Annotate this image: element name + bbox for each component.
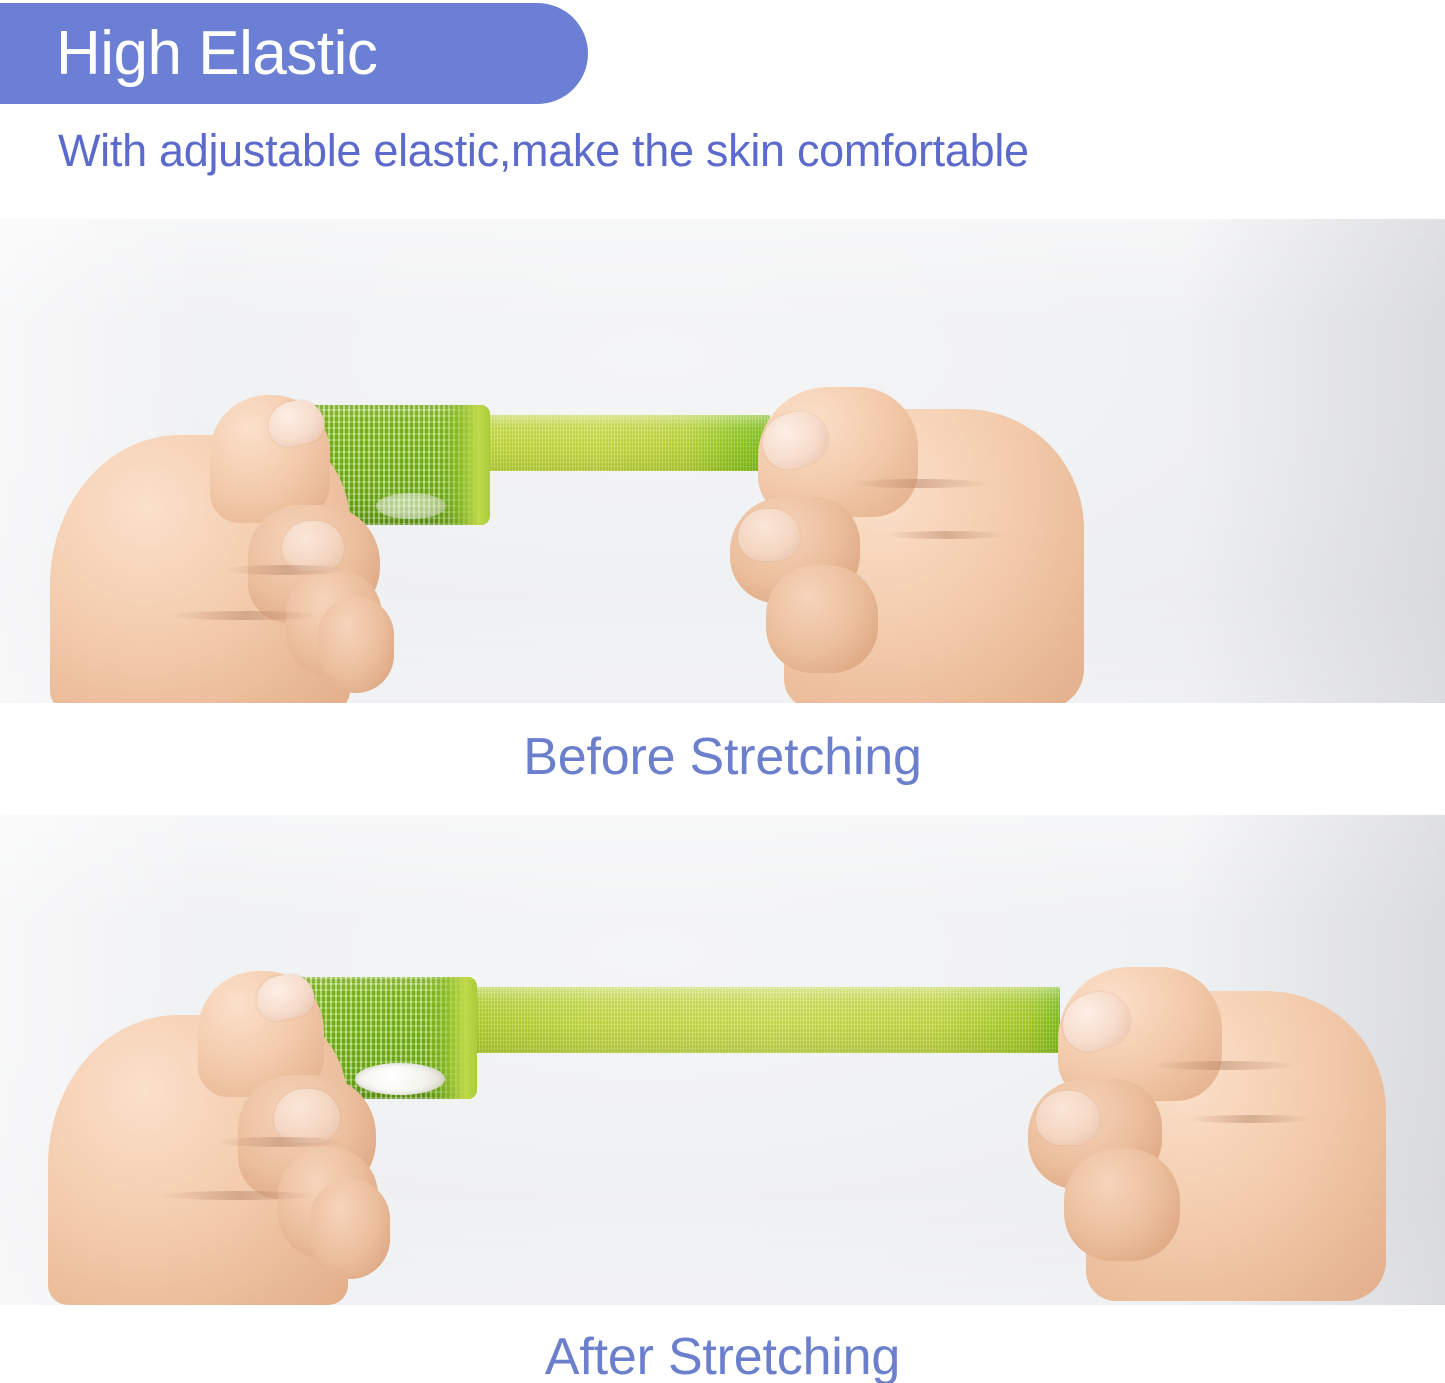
left-hand-before	[50, 379, 430, 703]
left-palm-crease	[170, 611, 320, 620]
left-knuckle-crease	[226, 565, 346, 575]
product-feature-image: High Elastic With adjustable elastic,mak…	[0, 0, 1445, 1383]
right-hand-before	[700, 369, 1100, 703]
right-middle-finger	[1064, 1149, 1180, 1261]
tape-sheen	[440, 987, 1060, 1053]
caption-before-stretching: Before Stretching	[0, 731, 1445, 783]
photo-after-stretching	[0, 815, 1445, 1305]
left-ring-finger	[310, 1179, 390, 1279]
tape-strip-after	[440, 987, 1060, 1053]
right-middle-finger	[766, 565, 878, 673]
right-knuckle-crease	[850, 479, 990, 488]
left-ring-finger	[318, 597, 394, 693]
right-knuckle-crease	[1152, 1061, 1296, 1070]
right-thumb-nail	[1036, 1091, 1100, 1145]
right-hand-crease	[1188, 1115, 1312, 1123]
subtitle-text: With adjustable elastic,make the skin co…	[58, 124, 1388, 178]
title-badge: High Elastic	[0, 3, 588, 104]
right-hand-crease	[886, 531, 1006, 539]
photo-before-stretching	[0, 219, 1445, 703]
left-hand-after	[48, 955, 438, 1305]
header: High Elastic With adjustable elastic,mak…	[0, 0, 1445, 219]
caption-after-stretching: After Stretching	[0, 1331, 1445, 1383]
page-title: High Elastic	[0, 23, 377, 85]
left-thumb-nail	[282, 521, 344, 571]
right-hand-after	[1000, 951, 1400, 1301]
left-palm-crease	[160, 1191, 316, 1200]
left-thumb-nail	[274, 1089, 340, 1143]
right-thumb-nail	[738, 509, 800, 561]
left-knuckle-crease	[218, 1137, 344, 1147]
